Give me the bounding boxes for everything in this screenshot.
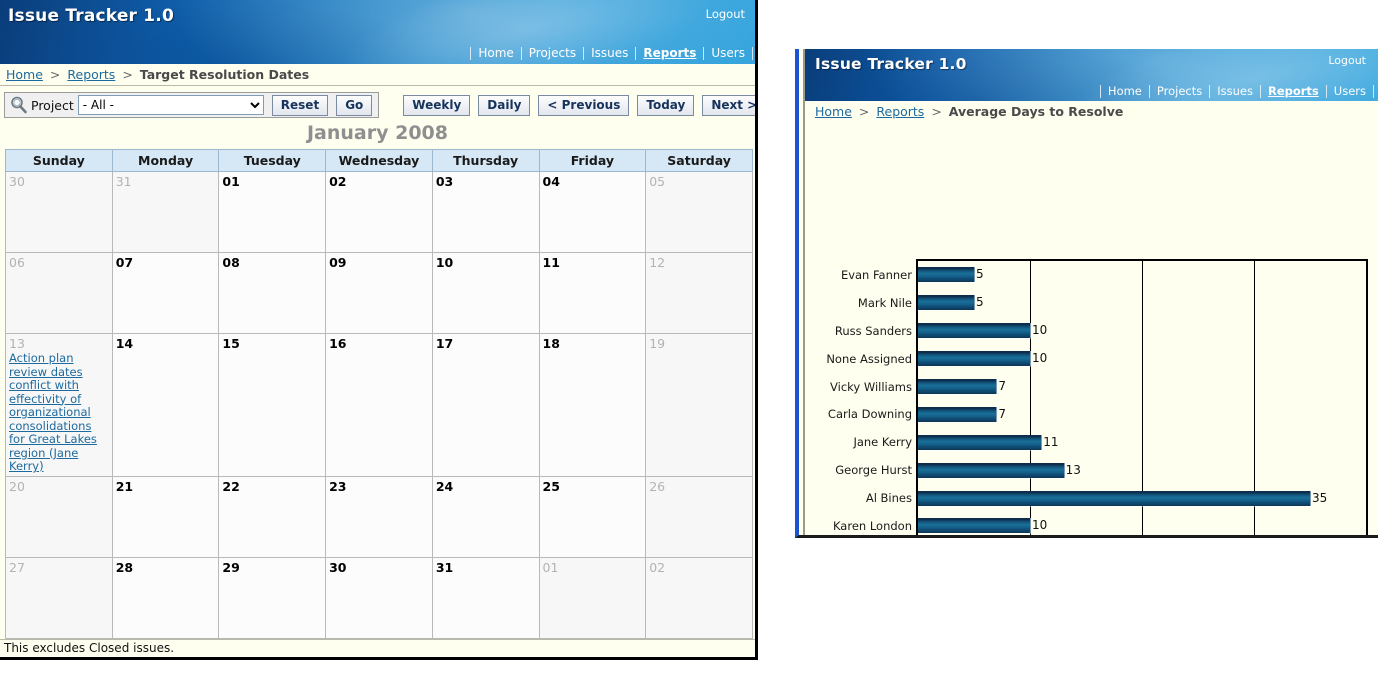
breadcrumb-home[interactable]: Home (6, 67, 43, 82)
top-navigation: Home Projects Issues Reports Users (470, 46, 753, 60)
calendar-day-cell[interactable]: 14 (112, 334, 219, 477)
nav-item-home[interactable]: Home (471, 46, 520, 60)
chart-category-label: Carla Downing (828, 407, 912, 421)
calendar-day-cell[interactable]: 30 (326, 557, 433, 638)
day-number: 01 (543, 560, 643, 575)
calendar-day-cell[interactable]: 31 (112, 172, 219, 253)
calendar-day-cell[interactable]: 17 (432, 334, 539, 477)
nav-item-reports[interactable]: Reports (1261, 84, 1326, 98)
breadcrumb-current: Target Resolution Dates (140, 67, 309, 82)
calendar-day-cell[interactable]: 02 (326, 172, 433, 253)
chart-bar[interactable]: 11 (918, 435, 1042, 450)
project-filter-group: Project - All - Reset Go (4, 92, 379, 118)
weekday-header-thursday: Thursday (432, 150, 539, 172)
day-number: 17 (436, 336, 536, 351)
calendar-day-cell[interactable]: 30 (6, 172, 113, 253)
app-banner: Issue Tracker 1.0 Logout Home Projects I… (805, 49, 1378, 101)
next-button[interactable]: Next > (702, 95, 758, 116)
chart-category-label: Jane Kerry (853, 435, 912, 449)
app-title: Issue Tracker 1.0 (815, 55, 967, 73)
calendar-day-cell[interactable]: 09 (326, 253, 433, 334)
day-number: 14 (116, 336, 216, 351)
day-number: 07 (116, 255, 216, 270)
calendar-body: 303101020304050607080910111213Action pla… (6, 172, 753, 639)
calendar-day-cell[interactable]: 08 (219, 253, 326, 334)
calendar-day-cell[interactable]: 25 (539, 476, 646, 557)
chart-bar-row: George Hurst13 (918, 456, 1366, 484)
app-title: Issue Tracker 1.0 (8, 6, 174, 26)
day-number: 19 (649, 336, 749, 351)
day-number: 22 (222, 479, 322, 494)
chart-bar-value: 7 (998, 379, 1006, 393)
report-window-inner: Issue Tracker 1.0 Logout Home Projects I… (803, 49, 1378, 535)
calendar-day-cell[interactable]: 18 (539, 334, 646, 477)
chart-category-label: Mark Nile (858, 296, 912, 310)
magnifier-icon (9, 95, 29, 115)
daily-button[interactable]: Daily (478, 95, 530, 116)
weekly-button[interactable]: Weekly (403, 95, 470, 116)
chart-bar-row: Russ Sanders10 (918, 317, 1366, 345)
chart-bar[interactable]: 5 (918, 267, 975, 282)
calendar-day-cell[interactable]: 31 (432, 557, 539, 638)
day-number: 26 (649, 479, 749, 494)
calendar-day-cell[interactable]: 29 (219, 557, 326, 638)
chart-bar-row: Evan Fanner5 (918, 261, 1366, 289)
weekday-header-sunday: Sunday (6, 150, 113, 172)
chart-bar-row: Vicky Williams7 (918, 373, 1366, 401)
chart-bar-value: 7 (998, 407, 1006, 421)
calendar-week-row: 20212223242526 (6, 476, 753, 557)
calendar-day-cell[interactable]: 23 (326, 476, 433, 557)
calendar-day-cell[interactable]: 26 (646, 476, 753, 557)
logout-link[interactable]: Logout (706, 7, 745, 21)
chart-bar-row: Karen London10 (918, 512, 1366, 538)
chart-bar[interactable]: 7 (918, 379, 997, 394)
day-number: 11 (543, 255, 643, 270)
chart-category-label: None Assigned (826, 352, 912, 366)
view-controls: Weekly Daily < Previous Today Next > (395, 95, 758, 116)
report-application-window: Issue Tracker 1.0 Logout Home Projects I… (795, 49, 1378, 538)
nav-item-home[interactable]: Home (1101, 84, 1149, 98)
chart-bar[interactable]: 5 (918, 295, 975, 310)
month-title: January 2008 (0, 120, 755, 149)
calendar-day-cell[interactable]: 24 (432, 476, 539, 557)
nav-item-issues[interactable]: Issues (584, 46, 635, 60)
breadcrumb-reports[interactable]: Reports (67, 67, 115, 82)
top-navigation: Home Projects Issues Reports Users (1100, 84, 1374, 98)
filter-toolbar: Project - All - Reset Go Weekly Daily < … (0, 86, 755, 120)
day-number: 02 (329, 174, 429, 189)
day-number: 25 (543, 479, 643, 494)
project-label: Project (29, 98, 78, 113)
average-days-to-resolve-chart: Evan Fanner5Mark Nile5Russ Sanders10None… (805, 122, 1378, 522)
screenshot-root: Issue Tracker 1.0 Logout Home Projects I… (0, 0, 1378, 689)
chart-bar-row: Mark Nile5 (918, 289, 1366, 317)
day-number: 08 (222, 255, 322, 270)
breadcrumb-reports[interactable]: Reports (876, 104, 924, 119)
day-number: 20 (9, 479, 109, 494)
chart-bar[interactable]: 10 (918, 323, 1031, 338)
chart-bar-row: Jane Kerry11 (918, 428, 1366, 456)
calendar-day-cell[interactable]: 11 (539, 253, 646, 334)
nav-item-projects[interactable]: Projects (522, 46, 583, 60)
nav-item-users[interactable]: Users (704, 46, 752, 60)
day-number: 13 (9, 336, 109, 351)
weekday-header-friday: Friday (539, 150, 646, 172)
day-number: 05 (649, 174, 749, 189)
nav-item-reports[interactable]: Reports (636, 46, 703, 60)
chart-bar-value: 10 (1032, 323, 1047, 337)
calendar-week-row: 13Action plan review dates conflict with… (6, 334, 753, 477)
previous-button[interactable]: < Previous (538, 95, 629, 116)
chart-bar-value: 5 (976, 295, 984, 309)
calendar-day-cell[interactable]: 03 (432, 172, 539, 253)
calendar-day-cell[interactable]: 07 (112, 253, 219, 334)
breadcrumb-separator: > (928, 104, 944, 119)
calendar-day-cell[interactable]: 15 (219, 334, 326, 477)
day-number: 12 (649, 255, 749, 270)
chart-bar-row: None Assigned10 (918, 345, 1366, 373)
nav-item-users[interactable]: Users (1327, 84, 1373, 98)
chart-bar-row: Al Bines35 (918, 484, 1366, 512)
chart-bar[interactable]: 13 (918, 463, 1065, 478)
chart-category-label: Vicky Williams (830, 380, 912, 394)
day-number: 09 (329, 255, 429, 270)
calendar-day-cell[interactable]: 28 (112, 557, 219, 638)
day-number: 10 (436, 255, 536, 270)
breadcrumb-current: Average Days to Resolve (949, 104, 1124, 119)
project-select[interactable]: - All - (78, 95, 264, 115)
chart-bar-row: Carla Downing7 (918, 400, 1366, 428)
go-button[interactable]: Go (336, 95, 372, 116)
chart-bar-value: 11 (1043, 435, 1058, 449)
day-number: 28 (116, 560, 216, 575)
calendar-day-cell[interactable]: 04 (539, 172, 646, 253)
day-number: 18 (543, 336, 643, 351)
weekday-header-monday: Monday (112, 150, 219, 172)
calendar-day-cell[interactable]: 27 (6, 557, 113, 638)
chart-bar[interactable]: 35 (918, 491, 1311, 506)
today-button[interactable]: Today (637, 95, 694, 116)
day-number: 21 (116, 479, 216, 494)
chart-category-label: Al Bines (866, 491, 912, 505)
day-number: 24 (436, 479, 536, 494)
chart-bar-value: 35 (1312, 491, 1327, 505)
chart-bar-value: 13 (1066, 463, 1081, 477)
calendar-week-row: 27282930310102 (6, 557, 753, 638)
calendar-day-cell[interactable]: 16 (326, 334, 433, 477)
chart-category-label: Evan Fanner (841, 268, 912, 282)
chart-plot-area: Evan Fanner5Mark Nile5Russ Sanders10None… (916, 259, 1368, 538)
day-number: 01 (222, 174, 322, 189)
calendar-header-row: Sunday Monday Tuesday Wednesday Thursday… (6, 150, 753, 172)
chart-category-label: Karen London (833, 519, 912, 533)
nav-separator (752, 47, 753, 60)
calendar-day-cell[interactable]: 13Action plan review dates conflict with… (6, 334, 113, 477)
issue-link[interactable]: Action plan review dates conflict with e… (9, 352, 109, 474)
day-number: 16 (329, 336, 429, 351)
calendar-application-window: Issue Tracker 1.0 Logout Home Projects I… (0, 0, 758, 660)
calendar-day-cell[interactable]: 22 (219, 476, 326, 557)
calendar-day-cell[interactable]: 05 (646, 172, 753, 253)
breadcrumb-home[interactable]: Home (815, 104, 852, 119)
app-banner: Issue Tracker 1.0 Logout Home Projects I… (0, 0, 755, 64)
day-number: 27 (9, 560, 109, 575)
day-number: 15 (222, 336, 322, 351)
day-number: 04 (543, 174, 643, 189)
calendar-week-row: 06070809101112 (6, 253, 753, 334)
calendar-day-cell[interactable]: 02 (646, 557, 753, 638)
calendar-day-cell[interactable]: 01 (219, 172, 326, 253)
nav-item-projects[interactable]: Projects (1150, 84, 1209, 98)
breadcrumb: Home > Reports > Target Resolution Dates (0, 64, 755, 86)
day-number: 30 (9, 174, 109, 189)
chart-category-label: Russ Sanders (835, 324, 912, 338)
chart-category-label: George Hurst (835, 463, 912, 477)
calendar-day-cell[interactable]: 20 (6, 476, 113, 557)
calendar-day-cell[interactable]: 06 (6, 253, 113, 334)
day-number: 29 (222, 560, 322, 575)
day-number: 03 (436, 174, 536, 189)
breadcrumb-separator: > (856, 104, 872, 119)
reset-button[interactable]: Reset (272, 95, 328, 116)
day-number: 23 (329, 479, 429, 494)
breadcrumb-separator: > (119, 67, 135, 82)
chart-bar-value: 10 (1032, 518, 1047, 532)
calendar-day-cell[interactable]: 12 (646, 253, 753, 334)
day-number: 31 (436, 560, 536, 575)
calendar-day-cell[interactable]: 01 (539, 557, 646, 638)
nav-separator (1373, 85, 1374, 98)
weekday-header-tuesday: Tuesday (219, 150, 326, 172)
calendar-day-cell[interactable]: 21 (112, 476, 219, 557)
weekday-header-wednesday: Wednesday (326, 150, 433, 172)
breadcrumb-separator: > (47, 67, 63, 82)
day-number: 06 (9, 255, 109, 270)
day-number: 31 (116, 174, 216, 189)
chart-bar-value: 5 (976, 267, 984, 281)
nav-item-issues[interactable]: Issues (1210, 84, 1260, 98)
logout-link[interactable]: Logout (1328, 54, 1366, 67)
calendar-day-cell[interactable]: 10 (432, 253, 539, 334)
calendar-week-row: 30310102030405 (6, 172, 753, 253)
calendar-footer-note: This excludes Closed issues. (0, 639, 755, 655)
chart-bar-value: 10 (1032, 351, 1047, 365)
calendar-day-cell[interactable]: 19 (646, 334, 753, 477)
chart-bar[interactable]: 10 (918, 518, 1031, 533)
breadcrumb: Home > Reports > Average Days to Resolve (805, 101, 1378, 122)
day-number: 02 (649, 560, 749, 575)
weekday-header-saturday: Saturday (646, 150, 753, 172)
chart-bar[interactable]: 7 (918, 407, 997, 422)
day-number: 30 (329, 560, 429, 575)
chart-bar[interactable]: 10 (918, 351, 1031, 366)
calendar-table: Sunday Monday Tuesday Wednesday Thursday… (5, 149, 753, 639)
